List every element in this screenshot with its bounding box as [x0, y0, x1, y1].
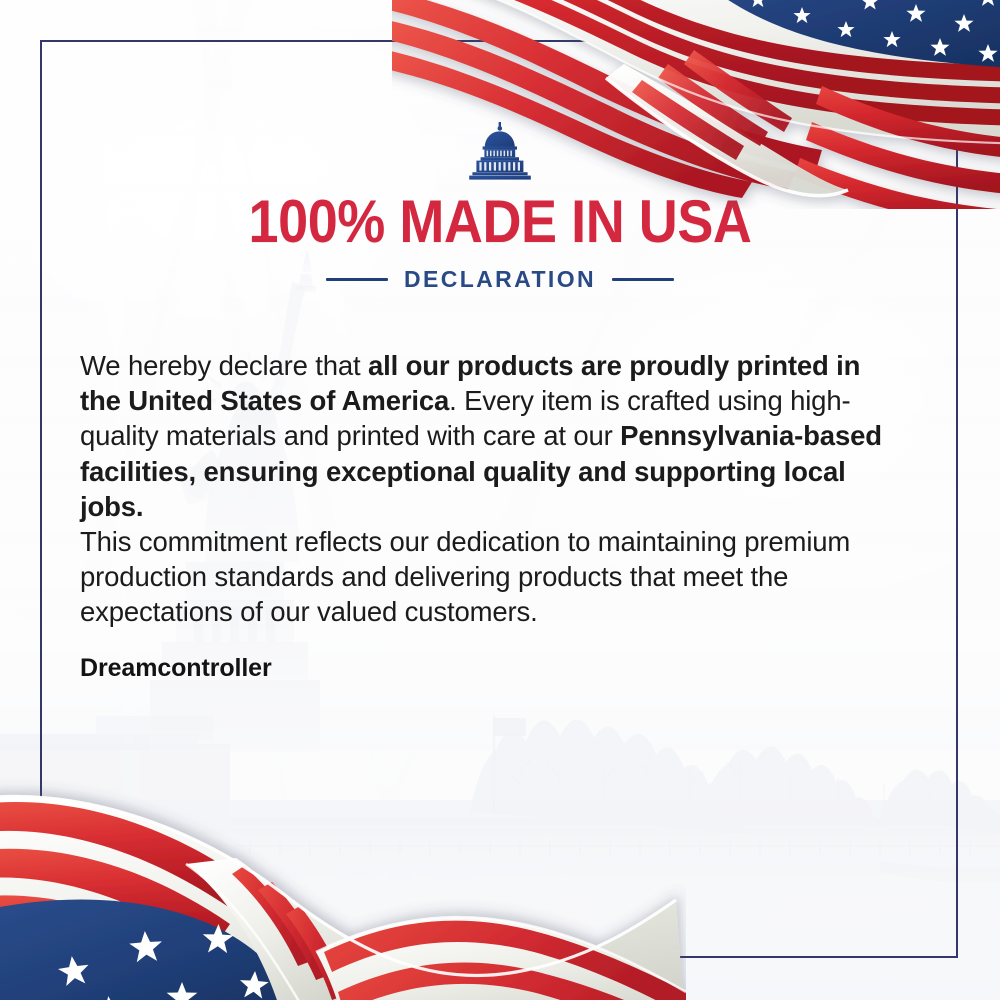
- declaration-body: We hereby declare that all our products …: [80, 348, 892, 630]
- page-subtitle: DECLARATION: [404, 266, 596, 293]
- declaration-paragraph-1: We hereby declare that all our products …: [80, 348, 892, 524]
- header-block: 100% MADE IN USA DECLARATION: [0, 122, 1000, 293]
- subtitle-row: DECLARATION: [0, 266, 1000, 293]
- declaration-paragraph-2: This commitment reflects our dedication …: [80, 524, 892, 630]
- declaration-poster: 100% MADE IN USA DECLARATION We hereby d…: [0, 0, 1000, 1000]
- capitol-building-icon: [461, 122, 539, 180]
- rule-left-icon: [326, 278, 388, 281]
- signature-name: Dreamcontroller: [80, 654, 272, 683]
- p1-segment-1: We hereby declare that: [80, 350, 368, 381]
- page-title: 100% MADE IN USA: [50, 192, 950, 252]
- rule-right-icon: [612, 278, 674, 281]
